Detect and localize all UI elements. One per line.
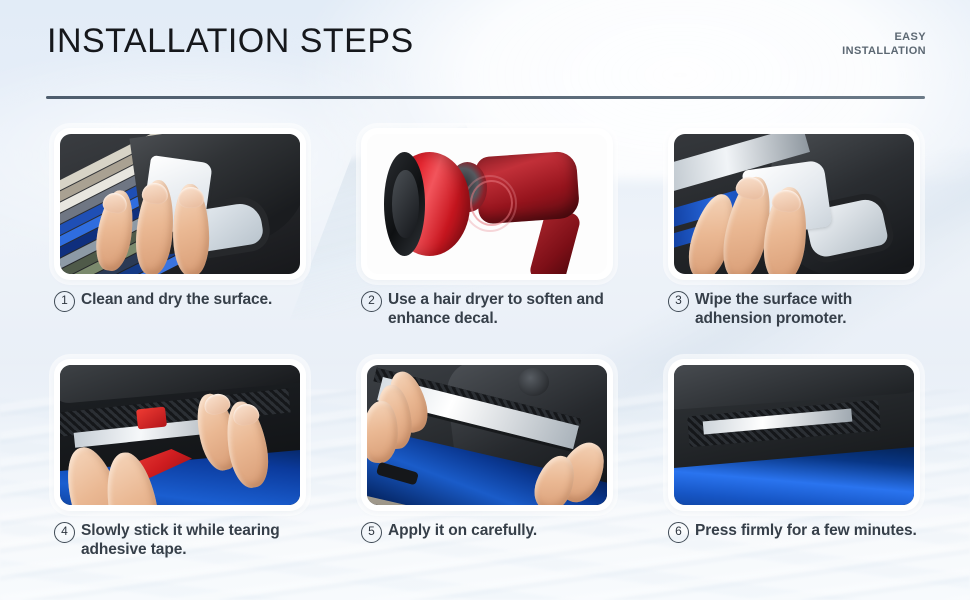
step-3-photo-frame bbox=[668, 128, 920, 280]
step-6-photo bbox=[674, 365, 914, 505]
step-1-photo bbox=[60, 134, 300, 274]
step-5-text: Apply it on carefully. bbox=[388, 521, 537, 540]
step-5-photo bbox=[367, 365, 607, 505]
step-5-photo-frame bbox=[361, 359, 613, 511]
step-card-1: 1 Clean and dry the surface. bbox=[46, 128, 312, 340]
step-1-number: 1 bbox=[54, 291, 75, 312]
step-3-caption: 3 Wipe the surface with adhension promot… bbox=[668, 290, 926, 328]
step-6-number: 6 bbox=[668, 522, 689, 543]
step-6-caption: 6 Press firmly for a few minutes. bbox=[668, 521, 926, 543]
step-card-6: 6 Press firmly for a few minutes. bbox=[660, 359, 926, 571]
step-2-photo bbox=[367, 134, 607, 274]
step-1-photo-frame bbox=[54, 128, 306, 280]
step-2-caption: 2 Use a hair dryer to soften and enhance… bbox=[361, 290, 619, 328]
tagline-line-2: INSTALLATION bbox=[756, 44, 926, 58]
step-1-text: Clean and dry the surface. bbox=[81, 290, 272, 309]
header-divider bbox=[46, 96, 925, 99]
installation-steps-page: INSTALLATION STEPS EASY INSTALLATION bbox=[0, 0, 970, 600]
step-1-caption: 1 Clean and dry the surface. bbox=[54, 290, 312, 312]
step-6-text: Press firmly for a few minutes. bbox=[695, 521, 917, 540]
step-3-photo bbox=[674, 134, 914, 274]
step-6-photo-frame bbox=[668, 359, 920, 511]
step-card-5: 5 Apply it on carefully. bbox=[353, 359, 619, 571]
step-4-number: 4 bbox=[54, 522, 75, 543]
tagline: EASY INSTALLATION bbox=[756, 30, 926, 58]
step-card-4: 4 Slowly stick it while tearing adhesive… bbox=[46, 359, 312, 571]
step-card-2: 2 Use a hair dryer to soften and enhance… bbox=[353, 128, 619, 340]
step-2-text: Use a hair dryer to soften and enhance d… bbox=[388, 290, 619, 328]
step-3-text: Wipe the surface with adhension promoter… bbox=[695, 290, 926, 328]
step-2-number: 2 bbox=[361, 291, 382, 312]
step-3-number: 3 bbox=[668, 291, 689, 312]
page-title: INSTALLATION STEPS bbox=[47, 22, 414, 61]
step-5-number: 5 bbox=[361, 522, 382, 543]
step-4-caption: 4 Slowly stick it while tearing adhesive… bbox=[54, 521, 312, 559]
steps-grid: 1 Clean and dry the surface. 2 bbox=[46, 128, 926, 578]
tagline-line-1: EASY bbox=[756, 30, 926, 44]
step-4-text: Slowly stick it while tearing adhesive t… bbox=[81, 521, 312, 559]
step-4-photo-frame bbox=[54, 359, 306, 511]
step-4-photo bbox=[60, 365, 300, 505]
step-card-3: 3 Wipe the surface with adhension promot… bbox=[660, 128, 926, 340]
step-5-caption: 5 Apply it on carefully. bbox=[361, 521, 619, 543]
step-2-photo-frame bbox=[361, 128, 613, 280]
page-header: INSTALLATION STEPS EASY INSTALLATION bbox=[0, 0, 970, 112]
